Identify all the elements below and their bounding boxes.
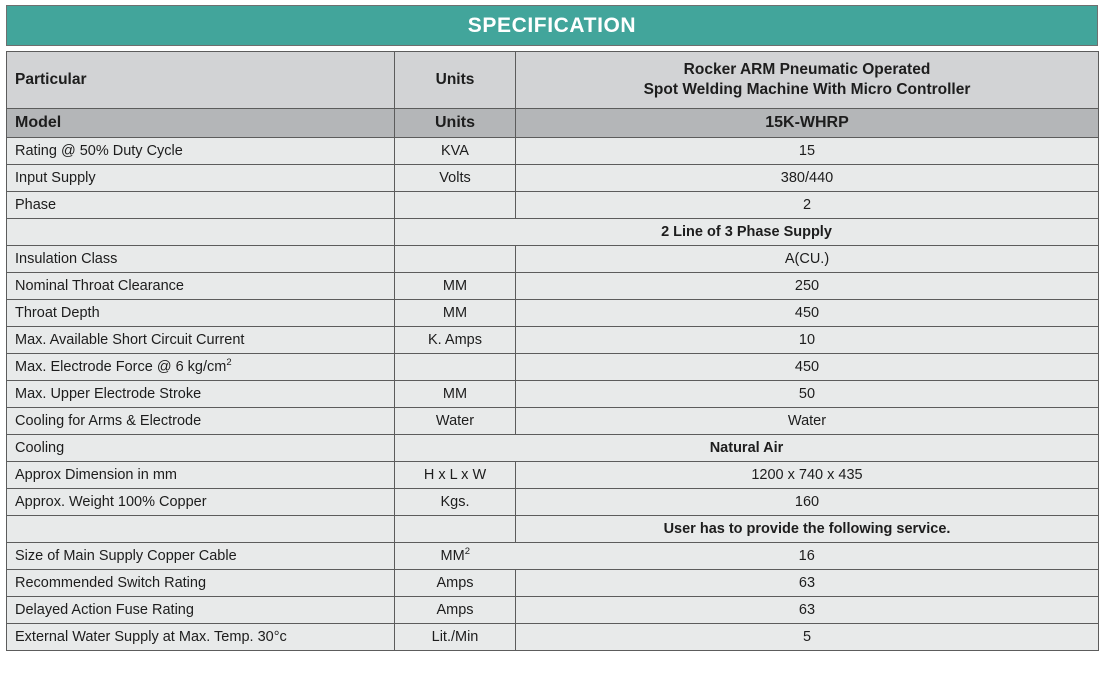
row-units: Amps (395, 597, 516, 624)
row-value: 63 (516, 597, 1099, 624)
row-particular: Delayed Action Fuse Rating (7, 597, 395, 624)
row-value: 10 (516, 327, 1099, 354)
row-value: 5 (516, 624, 1099, 651)
row-units (395, 516, 516, 543)
row-value: 1200 x 740 x 435 (516, 462, 1099, 489)
row-particular: Nominal Throat Clearance (7, 273, 395, 300)
row-units-text: MM (441, 548, 465, 564)
banner-title: SPECIFICATION (468, 15, 636, 36)
row-units: Amps (395, 570, 516, 597)
model-row: Model Units 15K-WHRP (7, 109, 1099, 138)
row-particular: Max. Upper Electrode Stroke (7, 381, 395, 408)
table-row: Nominal Throat ClearanceMM250 (7, 273, 1099, 300)
row-units (395, 192, 516, 219)
row-value: 2 (516, 192, 1099, 219)
row-units: Kgs. (395, 489, 516, 516)
row-value: 16 (516, 543, 1099, 570)
row-units (395, 246, 516, 273)
row-units: Water (395, 408, 516, 435)
row-units: MM2 (395, 543, 516, 570)
row-units: KVA (395, 138, 516, 165)
table-row: Size of Main Supply Copper CableMM216 (7, 543, 1099, 570)
row-particular: Max. Electrode Force @ 6 kg/cm2 (7, 354, 395, 381)
row-merged-value: 2 Line of 3 Phase Supply (395, 219, 1099, 246)
table-row: Max. Available Short Circuit CurrentK. A… (7, 327, 1099, 354)
table-row: Approx. Weight 100% CopperKgs.160 (7, 489, 1099, 516)
table-row: CoolingNatural Air (7, 435, 1099, 462)
table-body: Particular Units Rocker ARM Pneumatic Op… (7, 52, 1099, 651)
table-row: Cooling for Arms & ElectrodeWaterWater (7, 408, 1099, 435)
specification-table: Particular Units Rocker ARM Pneumatic Op… (6, 51, 1099, 651)
row-value: 380/440 (516, 165, 1099, 192)
row-units: K. Amps (395, 327, 516, 354)
row-particular: Cooling (7, 435, 395, 462)
row-particular: Phase (7, 192, 395, 219)
row-value: 63 (516, 570, 1099, 597)
row-value: 450 (516, 300, 1099, 327)
column-header-particular: Particular (7, 52, 395, 109)
column-header-units: Units (395, 52, 516, 109)
row-units: Volts (395, 165, 516, 192)
row-particular: Throat Depth (7, 300, 395, 327)
row-particular: Approx Dimension in mm (7, 462, 395, 489)
table-row: Insulation ClassA(CU.) (7, 246, 1099, 273)
row-value: 250 (516, 273, 1099, 300)
table-row: Max. Electrode Force @ 6 kg/cm2450 (7, 354, 1099, 381)
column-header-product: Rocker ARM Pneumatic Operated Spot Weldi… (516, 52, 1099, 109)
row-particular: Rating @ 50% Duty Cycle (7, 138, 395, 165)
product-name-line-1: Rocker ARM Pneumatic Operated (684, 61, 931, 78)
table-row: Phase2 (7, 192, 1099, 219)
row-units: Lit./Min (395, 624, 516, 651)
row-value: 160 (516, 489, 1099, 516)
table-row: Recommended Switch RatingAmps63 (7, 570, 1099, 597)
row-particular: Input Supply (7, 165, 395, 192)
specification-banner: SPECIFICATION (6, 5, 1098, 46)
table-row: Throat DepthMM450 (7, 300, 1099, 327)
row-value: 450 (516, 354, 1099, 381)
superscript-exponent: 2 (226, 357, 231, 368)
row-particular: Size of Main Supply Copper Cable (7, 543, 395, 570)
table-row: 2 Line of 3 Phase Supply (7, 219, 1099, 246)
row-units: MM (395, 381, 516, 408)
row-units: MM (395, 300, 516, 327)
table-row: Approx Dimension in mmH x L x W1200 x 74… (7, 462, 1099, 489)
model-value: 15K-WHRP (516, 109, 1099, 138)
row-particular: External Water Supply at Max. Temp. 30°c (7, 624, 395, 651)
row-units: H x L x W (395, 462, 516, 489)
row-particular-text: Max. Electrode Force @ 6 kg/cm (15, 359, 226, 375)
model-label: Model (7, 109, 395, 138)
row-particular (7, 516, 395, 543)
table-header-row: Particular Units Rocker ARM Pneumatic Op… (7, 52, 1099, 109)
model-units: Units (395, 109, 516, 138)
row-units (395, 354, 516, 381)
row-particular (7, 219, 395, 246)
row-value: A(CU.) (516, 246, 1099, 273)
row-value: User has to provide the following servic… (516, 516, 1099, 543)
row-value: 50 (516, 381, 1099, 408)
row-particular: Insulation Class (7, 246, 395, 273)
row-particular: Approx. Weight 100% Copper (7, 489, 395, 516)
row-merged-value: Natural Air (395, 435, 1099, 462)
row-value: Water (516, 408, 1099, 435)
row-particular: Recommended Switch Rating (7, 570, 395, 597)
row-particular: Cooling for Arms & Electrode (7, 408, 395, 435)
superscript-exponent: 2 (465, 546, 470, 557)
specification-sheet: SPECIFICATION Particular Units Rocker AR… (0, 0, 1104, 689)
table-row: Max. Upper Electrode StrokeMM50 (7, 381, 1099, 408)
table-row: Input SupplyVolts380/440 (7, 165, 1099, 192)
product-name-line-2: Spot Welding Machine With Micro Controll… (644, 81, 971, 98)
row-units: MM (395, 273, 516, 300)
row-particular: Max. Available Short Circuit Current (7, 327, 395, 354)
table-row: External Water Supply at Max. Temp. 30°c… (7, 624, 1099, 651)
table-row: User has to provide the following servic… (7, 516, 1099, 543)
table-row: Rating @ 50% Duty CycleKVA15 (7, 138, 1099, 165)
row-value: 15 (516, 138, 1099, 165)
table-row: Delayed Action Fuse RatingAmps63 (7, 597, 1099, 624)
